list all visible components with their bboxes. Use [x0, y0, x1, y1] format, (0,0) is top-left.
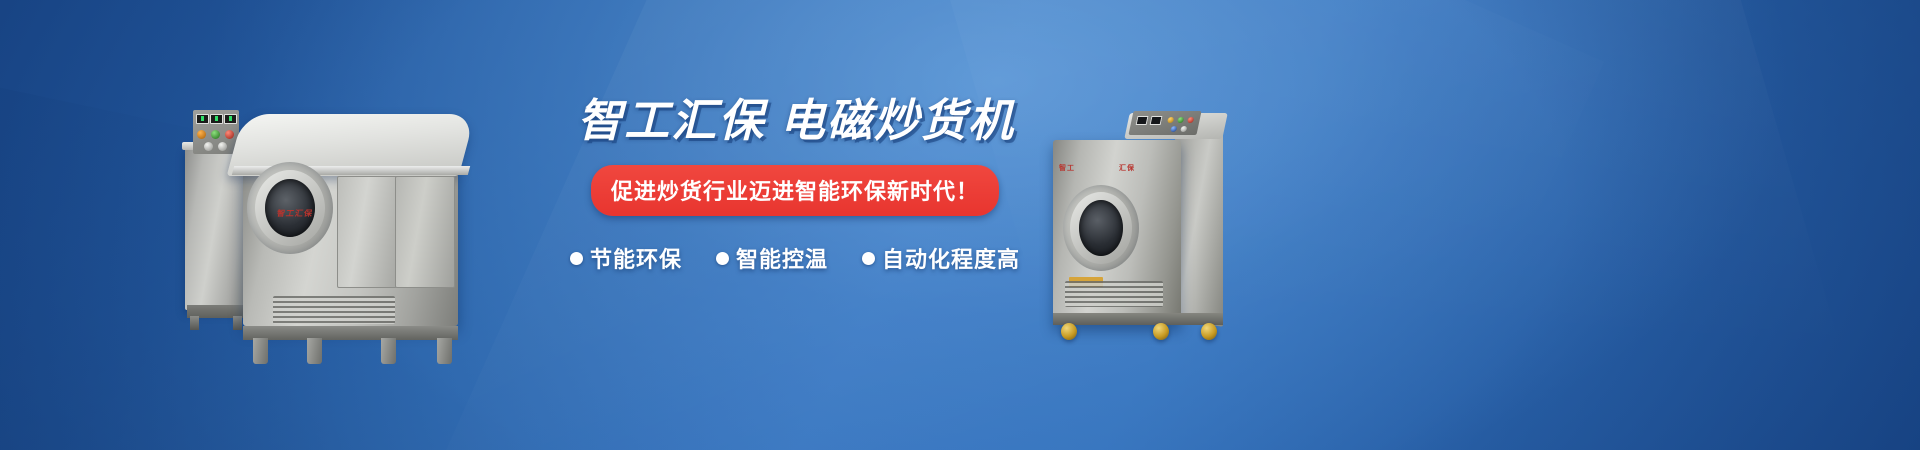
right-machine-control-panel: [1128, 111, 1201, 135]
left-machine-knob-3: [225, 130, 234, 139]
left-machine-leg-4: [437, 338, 452, 364]
page-title: 智工汇保 电磁炒货机: [560, 98, 1030, 143]
left-machine-door-2: [395, 176, 455, 288]
right-machine-caster-3: [1201, 323, 1217, 340]
right-machine-drum-opening: [1079, 200, 1123, 256]
left-machine-indicator-3: [224, 114, 237, 124]
right-machine-display-1: [1136, 116, 1149, 125]
right-machine-vent-grille: [1065, 281, 1163, 307]
bullet-dot-icon: [862, 252, 875, 265]
feature-label-1: 节能环保: [590, 242, 682, 274]
right-machine-caster-1: [1061, 323, 1077, 340]
right-machine-display-2: [1150, 116, 1163, 125]
right-machine-button-2: [1177, 117, 1184, 123]
right-machine-brand-mark-left: 智工: [1059, 163, 1075, 173]
left-machine-leg-3: [381, 338, 396, 364]
left-machine-indicator-1: [196, 114, 209, 124]
right-machine-button-3: [1187, 117, 1194, 123]
tagline-badge: 促进炒货行业迈进智能环保新时代！: [591, 165, 999, 216]
feature-list: 节能环保 智能控温 自动化程度高: [560, 242, 1030, 274]
right-machine-button-4: [1170, 126, 1177, 132]
left-machine-leg-2: [307, 338, 322, 364]
right-machine-brand-mark-right: 汇保: [1119, 163, 1135, 173]
left-machine-cabinet-foot-2: [233, 316, 242, 330]
left-machine-knob-4: [204, 142, 213, 151]
left-machine-skirt: [243, 326, 458, 340]
product-image-right-machine: 智工 汇保: [1035, 105, 1235, 350]
left-machine-control-panel: [193, 110, 239, 154]
bullet-dot-icon: [716, 252, 729, 265]
left-machine-knob-2: [211, 130, 220, 139]
feature-label-3: 自动化程度高: [882, 242, 1020, 274]
left-machine-cabinet-foot-1: [190, 316, 199, 330]
right-machine-button-1: [1167, 117, 1174, 123]
left-machine-indicator-2: [210, 114, 223, 124]
left-machine-brand-mark: 智工汇保: [276, 208, 314, 219]
left-machine-knob-5: [218, 142, 227, 151]
right-machine-side-panel: [1175, 123, 1223, 327]
feature-item-3: 自动化程度高: [862, 242, 1020, 274]
left-machine-knob-1: [197, 130, 206, 139]
promo-banner: 智工汇保 智工汇保 电磁炒货机 促进炒货行业迈进智能环保新时代！ 节能环保 智能…: [0, 0, 1920, 450]
feature-item-2: 智能控温: [716, 242, 828, 274]
badge-row: 促进炒货行业迈进智能环保新时代！: [560, 143, 1030, 216]
left-machine-leg-1: [253, 338, 268, 364]
banner-text-block: 智工汇保 电磁炒货机 促进炒货行业迈进智能环保新时代！ 节能环保 智能控温 自动…: [560, 98, 1030, 274]
bullet-dot-icon: [570, 252, 583, 265]
feature-label-2: 智能控温: [736, 242, 828, 274]
right-machine-button-5: [1180, 126, 1187, 132]
right-machine-caster-2: [1153, 323, 1169, 340]
left-machine-door-1: [337, 176, 397, 288]
right-machine-skirt: [1053, 313, 1223, 325]
product-image-left-machine: 智工汇保: [185, 100, 545, 350]
left-machine-vent-grille: [273, 296, 395, 324]
feature-item-1: 节能环保: [570, 242, 682, 274]
